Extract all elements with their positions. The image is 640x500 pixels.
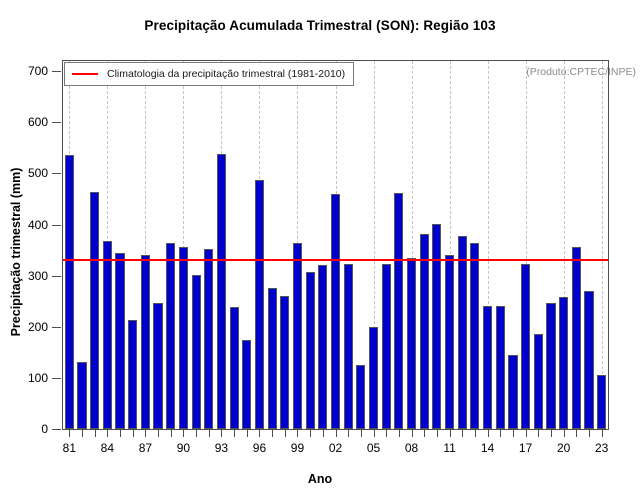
bar: [268, 288, 277, 429]
bar: [445, 255, 454, 429]
x-tick-label: 05: [367, 441, 380, 455]
legend-line-swatch: [72, 73, 98, 75]
x-tick-mark: [526, 430, 527, 437]
bar: [420, 234, 429, 429]
y-tick-mark: [52, 71, 61, 72]
x-tick-label: 87: [139, 441, 152, 455]
bar: [572, 247, 581, 429]
x-tick-label: 14: [481, 441, 494, 455]
bar: [584, 291, 593, 429]
x-tick-mark: [361, 430, 362, 437]
x-tick-label: 93: [215, 441, 228, 455]
x-tick-mark: [285, 430, 286, 437]
x-tick-mark: [589, 430, 590, 437]
bar: [192, 275, 201, 429]
y-tick-mark: [52, 429, 61, 430]
bar: [230, 307, 239, 429]
x-tick-mark: [348, 430, 349, 437]
bar: [432, 224, 441, 429]
y-tick-mark: [52, 173, 61, 174]
bar: [344, 264, 353, 429]
x-tick-mark: [145, 430, 146, 437]
bar: [318, 265, 327, 429]
x-tick-mark: [107, 430, 108, 437]
x-tick-mark: [412, 430, 413, 437]
x-tick-label: 11: [443, 441, 455, 455]
gridline-vertical: [602, 61, 603, 429]
x-tick-mark: [183, 430, 184, 437]
y-tick-label: 400: [28, 218, 48, 232]
x-tick-mark: [171, 430, 172, 437]
x-tick-mark: [551, 430, 552, 437]
x-tick-label: 81: [63, 441, 76, 455]
x-tick-mark: [513, 430, 514, 437]
x-tick-mark: [95, 430, 96, 437]
plot-inner: [63, 61, 608, 429]
x-tick-mark: [221, 430, 222, 437]
bar: [306, 272, 315, 429]
bar: [534, 334, 543, 429]
bar: [470, 243, 479, 429]
x-tick-label: 96: [253, 441, 266, 455]
y-axis-title: Precipitação trimestral (mm): [9, 97, 23, 407]
bar: [496, 306, 505, 429]
y-tick-mark: [52, 122, 61, 123]
x-tick-label: 84: [101, 441, 114, 455]
x-tick-mark: [133, 430, 134, 437]
x-tick-mark: [297, 430, 298, 437]
bar: [217, 154, 226, 429]
x-tick-mark: [488, 430, 489, 437]
x-tick-label: 02: [329, 441, 342, 455]
x-tick-mark: [424, 430, 425, 437]
x-tick-mark: [323, 430, 324, 437]
bar: [407, 258, 416, 429]
x-tick-label: 17: [519, 441, 532, 455]
precipitation-bar-chart-figure: Precipitação Acumulada Trimestral (SON):…: [0, 0, 640, 500]
x-tick-mark: [386, 430, 387, 437]
bar: [546, 303, 555, 429]
x-tick-mark: [450, 430, 451, 437]
bar: [458, 236, 467, 429]
bar: [331, 194, 340, 429]
bar: [115, 253, 124, 429]
x-tick-label: 23: [595, 441, 608, 455]
x-tick-mark: [374, 430, 375, 437]
bar: [356, 365, 365, 429]
y-tick-mark: [52, 327, 61, 328]
x-tick-label: 99: [291, 441, 304, 455]
x-tick-mark: [538, 430, 539, 437]
bar: [255, 180, 264, 429]
bar: [90, 192, 99, 429]
bar: [242, 340, 251, 429]
bar: [204, 249, 213, 429]
source-note: (Produto:CPTEC/INPE): [526, 66, 636, 78]
x-tick-mark: [82, 430, 83, 437]
bar: [103, 241, 112, 429]
bar: [153, 303, 162, 429]
x-tick-mark: [259, 430, 260, 437]
x-tick-mark: [399, 430, 400, 437]
y-tick-mark: [52, 276, 61, 277]
bar: [141, 255, 150, 429]
x-tick-mark: [196, 430, 197, 437]
bar: [394, 193, 403, 429]
bar: [280, 296, 289, 429]
chart-title: Precipitação Acumulada Trimestral (SON):…: [0, 18, 640, 33]
plot-area: [62, 60, 609, 430]
x-axis: 818487909396990205081114172023: [62, 430, 609, 470]
x-tick-mark: [500, 430, 501, 437]
x-tick-mark: [69, 430, 70, 437]
x-axis-title: Ano: [0, 472, 640, 486]
x-tick-mark: [272, 430, 273, 437]
bar: [293, 243, 302, 429]
bar: [483, 306, 492, 429]
x-tick-mark: [475, 430, 476, 437]
bar: [77, 362, 86, 429]
x-tick-mark: [462, 430, 463, 437]
x-tick-label: 20: [557, 441, 570, 455]
x-tick-mark: [336, 430, 337, 437]
y-tick-label: 0: [41, 422, 48, 436]
bar: [369, 327, 378, 429]
x-tick-mark: [602, 430, 603, 437]
bar: [382, 264, 391, 429]
bar: [128, 320, 137, 429]
x-tick-label: 08: [405, 441, 418, 455]
y-tick-label: 100: [28, 371, 48, 385]
x-tick-mark: [158, 430, 159, 437]
x-tick-mark: [576, 430, 577, 437]
y-tick-mark: [52, 225, 61, 226]
y-tick-label: 300: [28, 269, 48, 283]
x-tick-mark: [437, 430, 438, 437]
x-tick-mark: [310, 430, 311, 437]
y-tick-label: 600: [28, 115, 48, 129]
climatology-reference-line: [63, 259, 608, 261]
bar: [521, 264, 530, 429]
x-tick-mark: [564, 430, 565, 437]
x-tick-mark: [234, 430, 235, 437]
y-tick-label: 500: [28, 166, 48, 180]
y-tick-mark: [52, 378, 61, 379]
bar: [597, 375, 606, 429]
x-tick-mark: [247, 430, 248, 437]
legend-entry-label: Climatologia da precipitação trimestral …: [107, 68, 345, 80]
bar: [508, 355, 517, 429]
legend: Climatologia da precipitação trimestral …: [64, 62, 354, 86]
bar: [179, 247, 188, 429]
x-tick-mark: [120, 430, 121, 437]
bar: [166, 243, 175, 429]
bar: [65, 155, 74, 429]
bar: [559, 297, 568, 429]
y-tick-label: 200: [28, 320, 48, 334]
x-tick-mark: [209, 430, 210, 437]
y-tick-label: 700: [28, 64, 48, 78]
x-tick-label: 90: [177, 441, 190, 455]
